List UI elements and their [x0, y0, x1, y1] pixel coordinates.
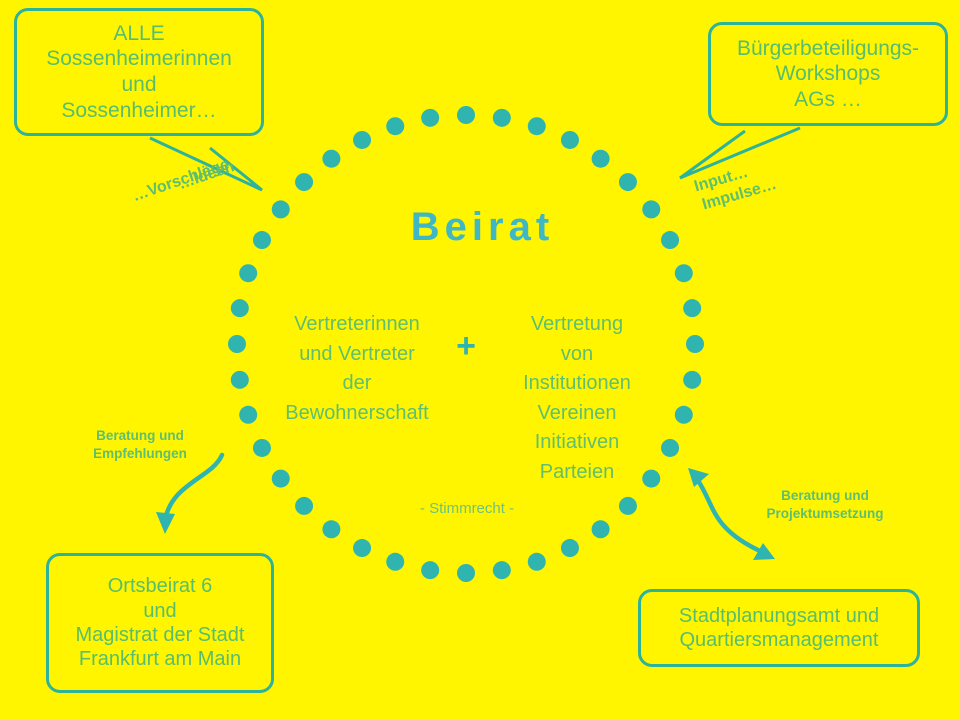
ring-dot: [675, 406, 693, 424]
column-institutions-line-6: Parteien: [492, 458, 662, 488]
column-residents-line-4: Bewohnerschaft: [272, 399, 442, 429]
column-institutions-line-5: Initiativen: [492, 428, 662, 458]
ring-dot: [528, 117, 546, 135]
box-stadtplanungsamt: Stadtplanungsamt und Quartiersmanagement: [638, 589, 920, 667]
ring-dot: [528, 553, 546, 571]
column-institutions-line-1: Vertretung: [492, 310, 662, 340]
ring-dot: [322, 520, 340, 538]
ring-dot: [457, 106, 475, 124]
annotation-right-line-1: Beratung und: [742, 487, 908, 505]
ring-dot: [683, 371, 701, 389]
ring-dot: [421, 109, 439, 127]
ring-dot: [619, 173, 637, 191]
column-institutions-line-4: Vereinen: [492, 399, 662, 429]
bubble-participation-line-2: Workshops: [776, 61, 881, 87]
ring-dot: [592, 520, 610, 538]
ring-dot: [592, 150, 610, 168]
ring-dot: [239, 406, 257, 424]
ring-dot: [322, 150, 340, 168]
ring-dot: [231, 299, 249, 317]
box-ortsbeirat-line-2: und: [143, 599, 176, 623]
ring-dot: [228, 335, 246, 353]
bubble-participation-line-3: AGs …: [794, 87, 862, 113]
ring-dot: [493, 561, 511, 579]
ring-dot: [493, 109, 511, 127]
ring-dot: [561, 131, 579, 149]
bubble-citizens-line-1: ALLE: [113, 21, 164, 47]
bubble-citizens-line-3: und: [121, 72, 156, 98]
annotation-beratung-empfehlungen: Beratung und Empfehlungen: [72, 427, 208, 463]
ring-dot: [353, 539, 371, 557]
ring-dot: [686, 335, 704, 353]
ring-dot: [386, 553, 404, 571]
bubble-citizens-line-2: Sossenheimerinnen: [46, 46, 232, 72]
annotation-right-line-2: Projektumsetzung: [742, 505, 908, 523]
note-stimmrecht: - Stimmrecht -: [367, 500, 567, 517]
ring-dot: [295, 497, 313, 515]
box-ortsbeirat-line-4: Frankfurt am Main: [79, 647, 241, 671]
arrow-beratung-empfehlungen-head: [156, 512, 175, 534]
column-residents-line-1: Vertreterinnen: [272, 310, 442, 340]
ring-dot: [661, 439, 679, 457]
ring-dot: [253, 439, 271, 457]
column-institutions-line-2: von: [492, 340, 662, 370]
column-institutions-line-3: Institutionen: [492, 369, 662, 399]
box-ortsbeirat: Ortsbeirat 6 und Magistrat der Stadt Fra…: [46, 553, 274, 693]
box-stadtplanungsamt-line-2: Quartiersmanagement: [680, 628, 879, 652]
ring-dot: [619, 497, 637, 515]
speech-bubble-citizens: ALLE Sossenheimerinnen und Sossenheimer…: [14, 8, 264, 136]
ring-dot: [561, 539, 579, 557]
column-residents: Vertreterinnen und Vertreter der Bewohne…: [272, 310, 442, 428]
box-stadtplanungsamt-line-1: Stadtplanungsamt und: [679, 604, 879, 628]
column-residents-line-3: der: [272, 369, 442, 399]
ring-dot: [386, 117, 404, 135]
arrow-beratung-projektumsetzung-head-down: [753, 543, 775, 560]
page-title: Beirat: [0, 205, 960, 250]
bubble-participation-line-1: Bürgerbeteiligungs-: [737, 36, 919, 62]
speech-bubble-participation: Bürgerbeteiligungs- Workshops AGs …: [708, 22, 948, 126]
ring-dot: [353, 131, 371, 149]
arrow-beratung-empfehlungen: [165, 455, 222, 520]
ring-dot: [231, 371, 249, 389]
plus-sign: +: [446, 329, 486, 363]
ring-dot: [239, 264, 257, 282]
box-ortsbeirat-line-3: Magistrat der Stadt: [76, 623, 245, 647]
column-institutions: Vertretung von Institutionen Vereinen In…: [492, 310, 662, 488]
ring-dot: [295, 173, 313, 191]
box-ortsbeirat-line-1: Ortsbeirat 6: [108, 574, 212, 598]
diagram-canvas: ALLE Sossenheimerinnen und Sossenheimer……: [0, 0, 960, 720]
ring-dot: [421, 561, 439, 579]
annotation-left-line-2: Empfehlungen: [72, 445, 208, 463]
arrow-beratung-projektumsetzung-head-up: [688, 468, 709, 487]
ring-dot: [683, 299, 701, 317]
column-residents-line-2: und Vertreter: [272, 340, 442, 370]
ring-dot: [457, 564, 475, 582]
bubble-citizens-line-4: Sossenheimer…: [61, 98, 216, 124]
annotation-left-line-1: Beratung und: [72, 427, 208, 445]
ring-dot: [675, 264, 693, 282]
annotation-beratung-projektumsetzung: Beratung und Projektumsetzung: [742, 487, 908, 523]
ring-dot: [272, 470, 290, 488]
